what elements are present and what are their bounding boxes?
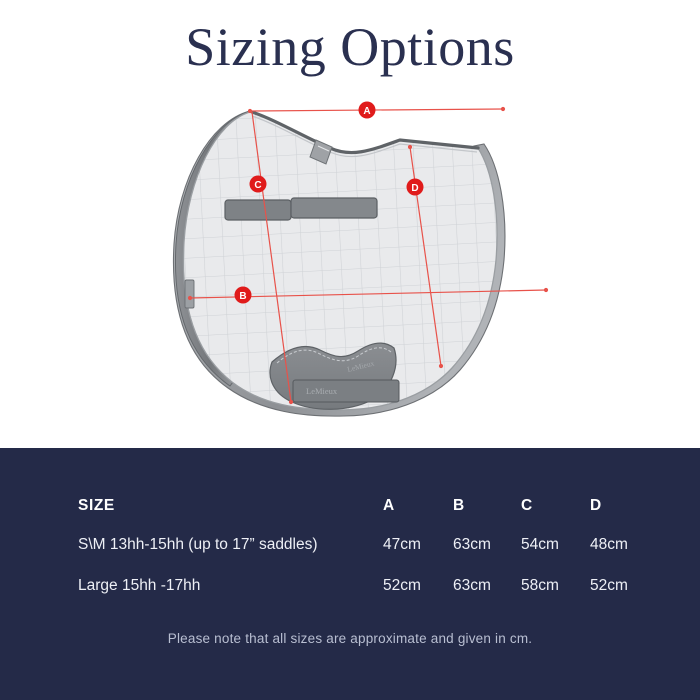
column-header-d: D: [590, 488, 638, 524]
cell-a-large: 52cm: [383, 565, 453, 606]
column-header-size: SIZE: [78, 488, 383, 524]
marker-badge-d: D: [407, 179, 424, 196]
size-table: SIZE A B C D S\M 13hh-15hh (up to 17” sa…: [78, 488, 638, 606]
cell-b-small: 63cm: [453, 524, 521, 565]
column-header-a: A: [383, 488, 453, 524]
brand-wordmark: LeMieux: [306, 386, 338, 396]
table-header-row: SIZE A B C D: [78, 488, 638, 524]
marker-badge-a: A: [359, 102, 376, 119]
cell-size-small: S\M 13hh-15hh (up to 17” saddles): [78, 524, 383, 565]
marker-label-b: B: [239, 291, 246, 302]
column-header-b: B: [453, 488, 521, 524]
marker-badge-b: B: [235, 287, 252, 304]
size-table-body: S\M 13hh-15hh (up to 17” saddles) 47cm 6…: [78, 524, 638, 606]
marker-badge-c: C: [250, 176, 267, 193]
girth-strap: [225, 198, 377, 220]
disclaimer-note: Please note that all sizes are approxima…: [0, 631, 700, 646]
hero-section: Sizing Options: [0, 0, 700, 448]
marker-label-a: A: [363, 106, 370, 117]
cell-a-small: 47cm: [383, 524, 453, 565]
table-row: Large 15hh -17hh 52cm 63cm 58cm 52cm: [78, 565, 638, 606]
cell-d-small: 48cm: [590, 524, 638, 565]
column-header-c: C: [521, 488, 590, 524]
size-table-head: SIZE A B C D: [78, 488, 638, 524]
cell-c-small: 54cm: [521, 524, 590, 565]
saddle-pad-diagram: LeMieux LeMieux: [0, 92, 700, 432]
table-row: S\M 13hh-15hh (up to 17” saddles) 47cm 6…: [78, 524, 638, 565]
cell-d-large: 52cm: [590, 565, 638, 606]
pad-side-tag: [185, 280, 194, 308]
cell-b-large: 63cm: [453, 565, 521, 606]
measure-line-a: [250, 109, 503, 111]
cell-c-large: 58cm: [521, 565, 590, 606]
marker-label-d: D: [411, 183, 418, 194]
marker-label-c: C: [254, 180, 261, 191]
page-title: Sizing Options: [0, 18, 700, 77]
spec-panel: SIZE A B C D S\M 13hh-15hh (up to 17” sa…: [0, 448, 700, 700]
cell-size-large: Large 15hh -17hh: [78, 565, 383, 606]
